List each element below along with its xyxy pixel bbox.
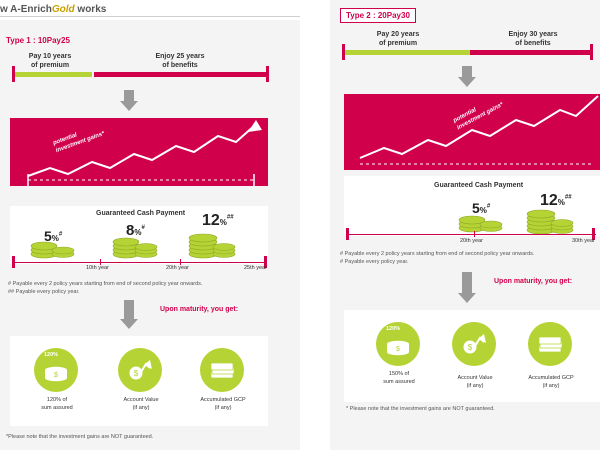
- type1-arrow1-head: [120, 101, 138, 111]
- r-pct-sup-1: ##: [565, 195, 572, 201]
- type1-coins-0: [30, 236, 76, 258]
- type1-tick-label-1: 20th year: [166, 265, 189, 271]
- premium-line1: Pay 10 years: [29, 53, 71, 60]
- r-benefit0-line2: sum assured: [383, 379, 415, 385]
- svg-text:$: $: [54, 372, 58, 379]
- type1-tick-label-0: 10th year: [86, 265, 109, 271]
- type1-arrow2-head: [120, 319, 138, 329]
- page-title-suffix: works: [75, 4, 107, 15]
- type1-benefit-badge-0: 120%: [44, 352, 58, 358]
- r-benefit2-line1: Accumulated GCP: [528, 375, 573, 381]
- type1-axis-start-cap: [12, 256, 15, 268]
- growth-arrow-icon: $: [462, 332, 486, 356]
- type2-arrow2-head: [458, 293, 476, 303]
- pct-sup-1: #: [141, 225, 144, 231]
- type1-gcp-title: Guaranteed Cash Payment: [96, 210, 185, 217]
- type1-premium-bar: [14, 72, 92, 77]
- type2-axis-start-cap: [346, 228, 349, 240]
- type1-arrow2-stem: [124, 300, 134, 320]
- type2-label: Type 2 : 20Pay30: [340, 8, 416, 23]
- type2-bar-end-cap: [590, 44, 593, 60]
- r-benefit-line1: Enjoy 30 years: [508, 31, 557, 38]
- type1-benefit-label-0: 120% of sum assured: [22, 396, 92, 412]
- page-title-prefix: w A-Enrich: [0, 4, 52, 15]
- type2-benefit-label-1: Account Value (if any): [440, 374, 510, 390]
- type1-label: Type 1 : 10Pay25: [6, 36, 70, 45]
- banknotes-icon: [210, 360, 236, 380]
- type2-arrow2-stem: [462, 272, 472, 294]
- type2-tick-label-0: 20th year: [460, 238, 483, 244]
- type2-arrow1-head: [458, 77, 476, 87]
- type1-coins-1: [112, 232, 160, 258]
- type1-benefit-label-2: Accumulated GCP (if any): [186, 396, 260, 412]
- type1-coins-2: [188, 224, 238, 258]
- type1-note-0: # Payable every 2 policy years starting …: [8, 280, 268, 288]
- type2-footnote: * Please note that the investment gains …: [346, 406, 495, 412]
- pct-sup-2: ##: [227, 215, 234, 221]
- type1-bar-start-cap: [12, 66, 15, 82]
- type2-benefit-label-2: Accumulated GCP (if any): [514, 374, 588, 390]
- type2-coins-1: [526, 202, 576, 234]
- r-benefit-line2: of benefits: [515, 40, 550, 47]
- type1-footnote: *Please note that the investment gains a…: [6, 434, 153, 440]
- type2-note-1: # Payable every policy year.: [340, 258, 596, 266]
- svg-text:$: $: [134, 369, 139, 378]
- type1-benefit-bar: [94, 72, 268, 77]
- type2-benefit-bar: [470, 50, 592, 55]
- benefit0-line1: 120% of: [47, 397, 67, 403]
- r-benefit0-line1: 150% of: [389, 371, 409, 377]
- type1-chart-baseline: [10, 118, 268, 186]
- r-benefit1-line1: Account Value: [457, 375, 492, 381]
- coins-stack-icon: $: [386, 334, 410, 356]
- type2-timeline-axis: [346, 234, 596, 235]
- benefit2-line1: Accumulated GCP: [200, 397, 245, 403]
- type2-gcp-title: Guaranteed Cash Payment: [434, 182, 523, 189]
- svg-text:$: $: [396, 346, 400, 353]
- growth-arrow-icon: $: [128, 358, 152, 382]
- type1-tick-label-2: 25th year: [244, 265, 267, 271]
- type2-bar-start-cap: [342, 44, 345, 60]
- benefit2-line2: (if any): [215, 405, 232, 411]
- type2-premium-label: Pay 20 years of premium: [348, 30, 448, 48]
- benefit-line1: Enjoy 25 years: [155, 53, 204, 60]
- brand-name: Gold: [52, 4, 75, 15]
- type1-maturity-label: Upon maturity, you get:: [160, 306, 238, 313]
- r-premium-line2: of premium: [379, 40, 417, 47]
- type2-chart-baseline: [344, 94, 600, 170]
- type2-coins-0: [458, 208, 504, 232]
- type1-benefit-label-1: Account Value (if any): [106, 396, 176, 412]
- svg-text:$: $: [468, 343, 473, 352]
- header-divider: [0, 16, 300, 17]
- type2-premium-bar: [344, 50, 470, 55]
- benefit-line2: of benefits: [162, 62, 197, 69]
- banknotes-icon: [538, 334, 564, 354]
- r-premium-line1: Pay 20 years: [377, 31, 419, 38]
- benefit1-line1: Account Value: [123, 397, 158, 403]
- type2-tick-0: [474, 231, 475, 237]
- premium-line2: of premium: [31, 62, 69, 69]
- type1-bar-end-cap: [266, 66, 269, 82]
- type1-note-1: ## Payable every policy year.: [8, 288, 268, 296]
- type2-maturity-label: Upon maturity, you get:: [494, 278, 572, 285]
- coins-stack-icon: $: [44, 360, 68, 382]
- type2-benefit-label: Enjoy 30 years of benefits: [478, 30, 588, 48]
- type2-tick-label-1: 30th year: [572, 238, 595, 244]
- type2-benefit-badge-0: 120%: [386, 326, 400, 332]
- type2-note-0: # Payable every 2 policy years starting …: [340, 250, 596, 258]
- type1-benefit-label: Enjoy 25 years of benefits: [120, 52, 240, 70]
- type1-timeline-axis: [12, 262, 266, 263]
- r-benefit1-line2: (if any): [467, 383, 484, 389]
- benefit0-line2: sum assured: [41, 405, 73, 411]
- type1-premium-label: Pay 10 years of premium: [10, 52, 90, 70]
- page-title: w A-EnrichGold works: [0, 4, 106, 15]
- type2-benefit-label-0: 150% of sum assured: [364, 370, 434, 386]
- r-benefit2-line2: (if any): [543, 383, 560, 389]
- benefit1-line2: (if any): [133, 405, 150, 411]
